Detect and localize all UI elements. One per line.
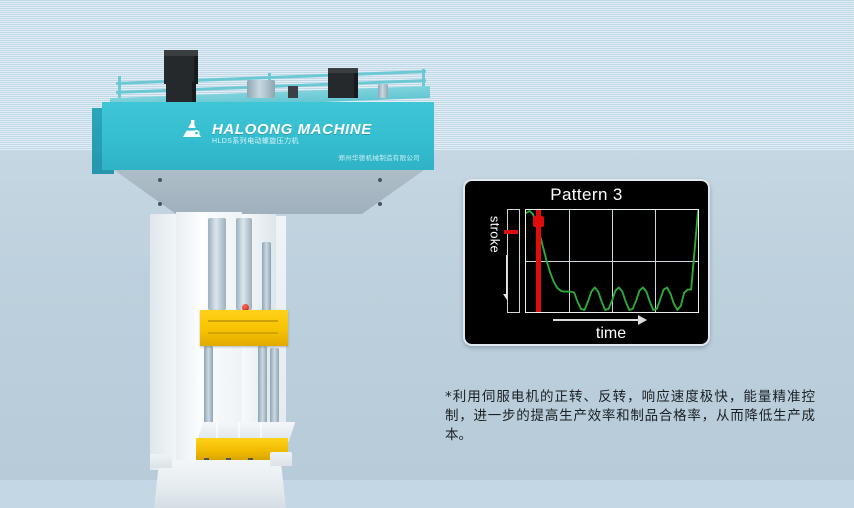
ram-groove xyxy=(208,320,278,322)
time-axis-label: time xyxy=(525,325,697,343)
bolt xyxy=(378,202,382,206)
guide-rod-lower-right xyxy=(258,346,267,426)
stroke-axis-label: stroke xyxy=(488,200,503,270)
cylinder-unit xyxy=(247,80,275,98)
brand-name: HALOONG MACHINE xyxy=(212,121,372,138)
ram-cylinder-left xyxy=(208,218,226,310)
plot-area-wrapper: stroke xyxy=(465,207,708,317)
machine-model-subtitle: HLDS系列电动螺旋压力机 xyxy=(212,136,299,146)
position-cursor-handle[interactable] xyxy=(533,216,544,227)
small-equipment-block xyxy=(288,86,298,98)
machine-base xyxy=(154,460,286,508)
cylinder-small xyxy=(378,84,388,98)
bolt xyxy=(158,202,162,206)
stroke-slider-marker[interactable] xyxy=(504,230,518,234)
guide-rod-lower-left xyxy=(204,346,213,430)
caption-text: *利用伺服电机的正转、反转，响应速度极快，能量精准控制，进一步的提高生产效率和制… xyxy=(445,388,815,445)
base-foot xyxy=(150,454,172,468)
manufacturer-name: 郑州华德机械制造有限公司 xyxy=(338,152,420,162)
guide-rod-lower-far xyxy=(270,348,279,424)
stroke-curve xyxy=(526,210,698,312)
chart-plot-area xyxy=(525,209,699,313)
stroke-time-chart-panel: Pattern 3 stroke xyxy=(463,179,710,346)
housing-transition-block xyxy=(114,170,424,214)
motor-box-right xyxy=(328,72,358,98)
motor-box-right-top xyxy=(328,68,358,73)
time-direction-arrow-icon xyxy=(553,319,639,321)
servo-press-machine: HALOONG MACHINE HLDS系列电动螺旋压力机 郑州华德机械制造有限… xyxy=(92,56,442,476)
motor-box-left-top xyxy=(164,50,198,56)
motor-box-left xyxy=(164,54,198,84)
bolt xyxy=(158,178,162,182)
haloong-logo-icon xyxy=(180,116,206,142)
scene-background: HALOONG MACHINE HLDS系列电动螺旋压力机 郑州华德机械制造有限… xyxy=(0,0,854,480)
ram-cylinder-right xyxy=(236,218,252,310)
press-ram-slide xyxy=(200,310,288,346)
bolt xyxy=(378,178,382,182)
position-cursor[interactable] xyxy=(536,210,541,312)
ram-groove xyxy=(208,332,278,334)
railing-post xyxy=(118,76,121,98)
stroke-slider-track[interactable] xyxy=(507,209,520,313)
machine-housing: HALOONG MACHINE HLDS系列电动螺旋压力机 郑州华德机械制造有限… xyxy=(102,102,434,170)
base-foot xyxy=(270,452,292,466)
